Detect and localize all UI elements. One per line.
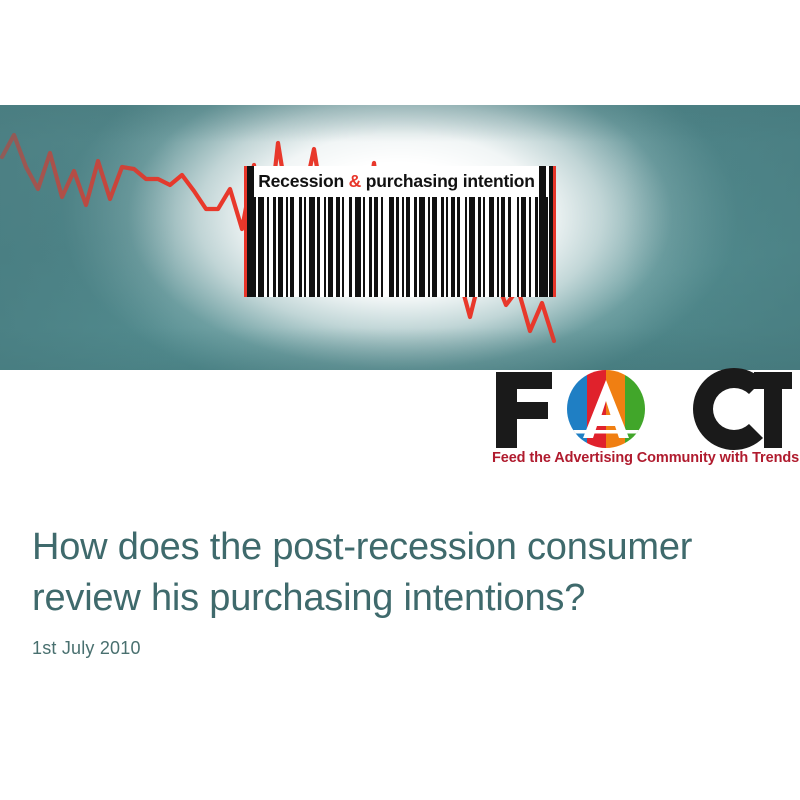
fact-logo: Feed the Advertising Community with Tren… <box>492 368 792 478</box>
barcode-guard-right <box>553 166 556 297</box>
title-block: How does the post-recession consumer rev… <box>32 522 752 659</box>
barcode-tall-bar-right-a <box>539 166 546 297</box>
barcode-bars <box>247 197 553 297</box>
fact-logo-mark <box>492 368 792 450</box>
page-title: How does the post-recession consumer rev… <box>32 522 752 624</box>
barcode-title-ampersand: & <box>349 171 361 191</box>
logo-letter-f-icon <box>496 372 552 448</box>
logo-letter-a-emblem-icon <box>567 370 647 448</box>
barcode-title-text: Recession & purchasing intention <box>254 173 539 191</box>
barcode-tall-bar-right-b <box>549 166 553 297</box>
page-title-line-2: review his purchasing intentions? <box>32 577 585 619</box>
slide-root: Recession & purchasing intention <box>0 0 800 800</box>
page-title-line-1: How does the post-recession consumer <box>32 526 692 568</box>
barcode-graphic: Recession & purchasing intention <box>244 166 556 297</box>
slide-date: 1st July 2010 <box>32 638 752 659</box>
barcode-title-bar: Recession & purchasing intention <box>247 166 553 197</box>
logo-letter-c-icon <box>693 368 763 450</box>
barcode-tall-bar-left <box>247 166 254 297</box>
fact-logo-tagline: Feed the Advertising Community with Tren… <box>492 451 792 467</box>
